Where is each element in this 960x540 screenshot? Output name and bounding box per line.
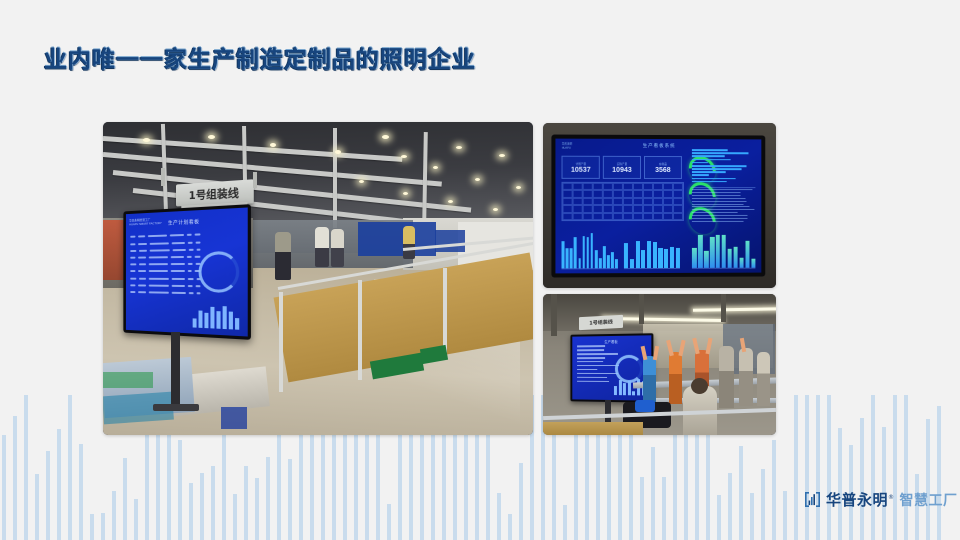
screen-data-cell <box>138 257 146 259</box>
decorative-bar <box>761 469 765 540</box>
screen-bar <box>223 306 227 329</box>
screen-data-cell <box>149 291 169 293</box>
dashboard-table-cell <box>643 197 653 205</box>
dashboard-table-cell <box>633 190 643 198</box>
dashboard-table-cell <box>603 190 613 198</box>
decorative-bar <box>882 427 886 540</box>
dashboard-hbar <box>692 177 736 179</box>
line-screen-bar <box>632 391 635 395</box>
dashboard-bar-chart-3 <box>692 230 755 269</box>
dashboard-chart-bar <box>710 236 714 267</box>
dashboard-table-cell <box>573 197 583 205</box>
dashboard-chart-bar <box>704 250 708 267</box>
huapu-bracket-bars-mark-icon <box>804 491 821 508</box>
screen-bar <box>235 318 239 329</box>
dashboard-chart-bar <box>612 252 615 268</box>
decorative-bar <box>552 435 556 540</box>
decorative-bar <box>134 499 138 540</box>
dashboard-table-cell <box>573 212 583 220</box>
dashboard-table-cell <box>603 205 613 213</box>
dashboard-table-cell <box>673 190 683 197</box>
screen-data-rows <box>130 232 200 298</box>
line-screen-bar <box>619 380 622 395</box>
screen-data-cell <box>196 292 201 294</box>
screen-data-cell <box>187 234 192 236</box>
screen-data-cell <box>188 285 193 287</box>
dashboard-chart-bar <box>664 249 668 268</box>
screen-data-cell <box>130 250 136 252</box>
line-screen-row <box>577 381 610 383</box>
decorative-bar <box>233 494 237 540</box>
dashboard-table-cell <box>623 205 633 213</box>
dashboard-chart-bar <box>591 233 594 268</box>
screen-data-cell <box>138 270 146 272</box>
dashboard-chart-bar <box>566 248 569 268</box>
screen-data-cell <box>170 234 184 236</box>
dashboard-table-cell <box>673 212 683 219</box>
line-overhead-sign: 1号组装线 <box>579 315 623 330</box>
dashboard-table-cell <box>563 205 573 213</box>
decorative-bar <box>123 458 127 540</box>
decorative-bar <box>24 395 28 540</box>
screen-data-cell <box>130 257 135 259</box>
production-board-screen: 华普永明智慧工厂 HUAPU SMART FACTORY 生产计划看板 <box>126 207 248 336</box>
dashboard-table-cell <box>573 205 583 213</box>
dashboard-table-cell <box>573 182 583 190</box>
screen-data-cell <box>149 256 168 258</box>
decorative-bar <box>321 420 325 540</box>
decorative-bar <box>167 424 171 540</box>
dashboard-table-cell <box>593 190 603 198</box>
dashboard-table-cell <box>613 205 623 213</box>
dashboard-table-cell <box>643 205 653 213</box>
kpi-label: 实际产量 <box>617 161 627 165</box>
screen-data-cell <box>149 277 169 279</box>
dashboard-table-cell <box>673 205 683 212</box>
dashboard-list-row <box>692 212 738 213</box>
dashboard-table-cell <box>593 197 603 205</box>
dashboard-chart-bar <box>630 259 634 268</box>
screen-data-row <box>130 290 200 296</box>
decorative-bar <box>90 514 94 540</box>
screen-data-row <box>130 240 200 247</box>
decorative-bar <box>376 430 380 540</box>
dashboard-table-cell <box>593 182 603 190</box>
decorative-bar <box>838 428 842 540</box>
brand-logo: 华普永明® 智慧工厂 <box>804 489 958 510</box>
decorative-bar <box>860 418 864 540</box>
dashboard-list-row <box>692 200 746 201</box>
decorative-bar <box>772 440 776 540</box>
dashboard-chart-bar <box>624 243 628 268</box>
dashboard-monitor-bezel: 华普永明 HUAPU 生产看板系统 计划产量 10537 实际产量 10943 <box>552 134 766 277</box>
dashboard-table-cell <box>583 212 593 220</box>
decorative-bar <box>816 395 820 540</box>
dashboard-table-cell <box>643 190 653 198</box>
line-screen-row <box>577 373 618 375</box>
screen-data-cell <box>138 291 146 293</box>
dashboard-chart-bar <box>583 235 586 267</box>
screen-data-cell <box>130 270 135 272</box>
screen-data-cell <box>138 243 146 245</box>
kpi-card: 实际产量 10943 <box>603 156 641 179</box>
decorative-bar <box>926 419 930 540</box>
decorative-bar <box>717 495 721 540</box>
dashboard-chart-bar <box>587 237 590 268</box>
screen-bar <box>229 311 233 329</box>
screen-data-cell <box>172 292 186 294</box>
screen-data-cell <box>139 250 147 252</box>
dashboard-order-list-panel <box>692 187 755 223</box>
decorative-bar <box>805 395 809 540</box>
decorative-bar <box>178 440 182 540</box>
decorative-bar <box>497 493 501 540</box>
kpi-card: 在制品 3568 <box>644 156 682 179</box>
dashboard-table-cell <box>583 182 593 190</box>
dashboard-table-cell <box>583 197 593 205</box>
screen-data-cell <box>172 278 185 280</box>
decorative-bar <box>112 491 116 540</box>
dashboard-chart-bar <box>698 234 702 267</box>
dashboard-chart-bar <box>570 248 573 268</box>
kpi-value: 10943 <box>612 166 632 173</box>
line-screen-bar <box>614 386 617 395</box>
dashboard-chart-bar <box>562 241 565 268</box>
dashboard-chart-bar <box>653 242 657 268</box>
decorative-bar <box>640 477 644 540</box>
line-screen-row <box>577 357 605 359</box>
screen-data-cell <box>171 242 185 244</box>
decorative-bar <box>288 459 292 540</box>
screen-data-cell <box>149 263 168 265</box>
screen-bar <box>217 311 221 329</box>
decorative-bar <box>211 466 215 540</box>
line-board-monitor: 生产看板 <box>570 333 653 403</box>
decorative-bar <box>794 395 798 540</box>
photo-factory-assembly-line-overview: 1号组装线 Assembly line 1 华普永明智慧工厂 HUAPU SMA… <box>103 122 533 435</box>
decorative-bar <box>266 457 270 540</box>
dashboard-table-cell <box>613 212 623 220</box>
decorative-bar <box>46 451 50 540</box>
line-overhead-sign-text: 1号组装线 <box>589 318 612 326</box>
dashboard-chart-bar <box>692 247 696 267</box>
dashboard-list-row <box>692 197 746 198</box>
line-screen-row <box>577 345 605 347</box>
dashboard-table-cell <box>663 197 673 204</box>
screen-data-row <box>130 269 200 274</box>
line-screen-row <box>577 365 619 367</box>
dashboard-table-cell <box>603 212 613 220</box>
decorative-bar <box>68 395 72 540</box>
screen-data-cell <box>189 249 194 251</box>
decorative-bar <box>57 429 61 540</box>
screen-data-cell <box>130 291 135 293</box>
brand-name-text: 华普永明 <box>826 491 888 509</box>
dashboard-table-cell <box>663 190 673 198</box>
screen-data-cell <box>130 236 135 238</box>
dashboard-list-row <box>692 220 743 221</box>
dashboard-list-row <box>692 209 754 210</box>
screen-data-cell <box>188 270 192 272</box>
dashboard-hbar <box>692 171 725 173</box>
screen-data-cell <box>187 263 192 265</box>
decorative-bar <box>2 435 6 540</box>
screen-data-row <box>130 254 200 260</box>
dashboard-chart-bar <box>574 237 577 268</box>
dashboard-chart-bar <box>722 234 726 267</box>
dashboard-hbar <box>692 168 742 170</box>
screen-header-title: 生产计划看板 <box>130 213 242 231</box>
screen-data-cell <box>130 277 136 279</box>
decorative-bar <box>101 513 105 540</box>
dashboard-table-cell <box>663 205 673 212</box>
screen-data-cell <box>138 236 146 238</box>
photo-production-dashboard-screen: 华普永明 HUAPU 生产看板系统 计划产量 10537 实际产量 10943 <box>543 123 776 288</box>
screen-data-row <box>130 247 200 253</box>
dashboard-chart-bar <box>599 258 602 268</box>
decorative-bar <box>464 426 468 540</box>
dashboard-table-cell <box>563 190 573 198</box>
dashboard-horizontal-bar-panel <box>692 148 755 183</box>
screen-data-cell <box>171 263 185 265</box>
dashboard-hbar <box>692 155 725 157</box>
dashboard-chart-bar <box>647 240 651 267</box>
dashboard-table-cell <box>613 182 623 190</box>
kpi-value: 3568 <box>655 166 671 173</box>
production-board-monitor: 华普永明智慧工厂 HUAPU SMART FACTORY 生产计划看板 <box>123 204 251 340</box>
dashboard-list-row <box>692 189 752 190</box>
decorative-bar <box>519 463 523 540</box>
dashboard-table-cell <box>643 212 653 219</box>
dashboard-hbar <box>692 161 708 163</box>
photo-assembly-line-workers: 1号组装线 生产看板 <box>543 294 776 435</box>
screen-data-cell <box>196 285 201 287</box>
dashboard-chart-bar <box>752 258 756 267</box>
screen-data-cell <box>195 241 200 243</box>
dashboard-table-cell <box>613 197 623 205</box>
dashboard-hbar <box>692 180 726 182</box>
screen-data-cell <box>187 256 192 258</box>
dashboard-table-cell <box>563 212 573 220</box>
dashboard-table-cell <box>663 212 673 219</box>
dashboard-table-cell <box>653 197 663 205</box>
decorative-bar <box>508 514 512 540</box>
screen-data-cell <box>139 264 146 266</box>
decorative-bar <box>244 466 248 540</box>
brand-sub-name: 智慧工厂 <box>900 490 958 510</box>
decorative-bar <box>200 473 204 540</box>
dashboard-chart-bar <box>595 249 598 267</box>
dashboard-chart-bar <box>716 235 720 267</box>
dashboard-chart-bar <box>740 257 744 267</box>
dashboard-table-cell <box>633 197 643 205</box>
dashboard-table-cell <box>653 212 663 219</box>
decorative-bar <box>387 504 391 540</box>
kpi-label: 在制品 <box>659 161 667 165</box>
line-board-screen: 生产看板 <box>572 335 651 400</box>
overhead-sign-text: 1号组装线 <box>189 184 239 203</box>
decorative-bar <box>662 477 666 540</box>
dashboard-table-cell <box>663 182 673 189</box>
dashboard-hbar <box>692 165 746 167</box>
dashboard-bar-chart-2 <box>624 230 680 269</box>
dashboard-table-cell <box>653 190 663 198</box>
decorative-bar <box>904 395 908 540</box>
decorative-bar <box>222 429 226 540</box>
dashboard-table-cell <box>573 190 583 198</box>
screen-data-cell <box>171 270 185 272</box>
dashboard-table-cell <box>633 212 643 219</box>
dashboard-hbar <box>692 152 749 154</box>
dashboard-table-cell <box>623 197 633 205</box>
dashboard-table-cell <box>673 182 683 189</box>
screen-data-cell <box>188 241 193 243</box>
screen-data-cell <box>149 249 169 251</box>
decorative-bar <box>255 478 259 540</box>
screen-data-cell <box>139 277 147 279</box>
slide-canvas: 业内唯一一家生产制造定制品的照明企业 <box>0 0 960 540</box>
screen-data-cell <box>195 256 201 258</box>
dashboard-table-cell <box>623 212 633 220</box>
screen-bar <box>211 307 215 329</box>
registered-mark: ® <box>888 494 895 501</box>
screen-data-cell <box>149 284 169 286</box>
screen-data-cell <box>130 243 135 245</box>
brand-name: 华普永明® <box>826 489 895 510</box>
dashboard-table-cell <box>643 182 653 190</box>
line-screen-header: 生产看板 <box>572 339 651 345</box>
dashboard-table-cell <box>593 212 603 220</box>
decorative-bar <box>35 474 39 540</box>
screen-data-cell <box>149 270 168 272</box>
dashboard-table-cell <box>633 205 643 213</box>
dashboard-chart-bar <box>636 240 640 267</box>
screen-data-cell <box>171 256 184 258</box>
dashboard-bar-chart-1 <box>562 230 618 269</box>
dashboard-list-row <box>692 192 740 193</box>
screen-data-cell <box>171 285 185 287</box>
screen-bar-chart <box>193 301 240 330</box>
screen-bar <box>193 318 197 327</box>
screen-data-cell <box>130 284 135 286</box>
dashboard-hbar <box>692 158 731 160</box>
dashboard-chart-bar <box>607 254 610 267</box>
dashboard-chart-bar <box>670 246 674 267</box>
decorative-bar <box>728 473 732 540</box>
screen-data-row <box>130 276 200 281</box>
dashboard-table-cell <box>563 197 573 205</box>
decorative-bar <box>871 395 875 540</box>
dashboard-table-cell <box>623 190 633 198</box>
dashboard-table-cell <box>603 197 613 205</box>
dashboard-chart-bar <box>734 246 738 267</box>
decorative-bar <box>783 491 787 540</box>
dashboard-list-row <box>692 218 747 219</box>
dashboard-chart-bar <box>659 248 663 268</box>
dashboard-list-row <box>692 194 740 195</box>
dashboard-kpi-row: 计划产量 10537 实际产量 10943 在制品 3568 <box>562 156 682 179</box>
dashboard-table-cell <box>633 182 643 190</box>
dashboard-hbar <box>692 149 728 151</box>
line-screen-row <box>577 361 603 363</box>
screen-bar <box>205 313 209 329</box>
decorative-bar <box>937 406 941 540</box>
screen-bar <box>199 311 203 328</box>
dashboard-hbar <box>692 174 709 176</box>
dashboard-chart-bar <box>616 259 619 268</box>
kpi-label: 计划产量 <box>576 161 586 165</box>
screen-data-cell <box>138 284 146 286</box>
decorative-bar <box>827 395 831 540</box>
kpi-card: 计划产量 10537 <box>562 156 600 179</box>
dashboard-table-cell <box>653 182 663 189</box>
dashboard-chart-bar <box>603 246 606 268</box>
line-screen-bar <box>628 380 631 395</box>
dashboard-chart-bar <box>728 248 732 267</box>
dashboard-table-cell <box>653 205 663 213</box>
screen-data-cell <box>172 249 185 251</box>
decorative-bar <box>750 493 754 540</box>
decorative-bar <box>79 444 83 540</box>
dashboard-list-row <box>692 215 747 216</box>
screen-data-cell <box>130 264 136 266</box>
dashboard-table-cell <box>583 190 593 198</box>
decorative-bar <box>189 483 193 540</box>
decorative-bar <box>13 416 17 540</box>
kpi-value: 10537 <box>571 166 591 173</box>
decorative-bar <box>343 430 347 540</box>
decorative-bar <box>651 447 655 540</box>
dashboard-table-cell <box>613 190 623 198</box>
dashboard-table-cell <box>603 182 613 190</box>
dashboard-table-cell <box>673 197 683 204</box>
dashboard-screen: 华普永明 HUAPU 生产看板系统 计划产量 10537 实际产量 10943 <box>556 138 762 273</box>
line-screen-bar <box>623 383 626 395</box>
line-screen-row <box>577 349 605 351</box>
screen-data-cell <box>195 234 201 236</box>
dashboard-table-cell <box>623 182 633 190</box>
screen-data-cell <box>148 235 167 238</box>
screen-data-row <box>130 262 200 267</box>
line-screen-row <box>577 369 598 371</box>
decorative-bar <box>563 505 567 540</box>
screen-data-cell <box>188 292 193 294</box>
screen-data-row <box>130 283 200 289</box>
dashboard-list-row <box>692 206 749 207</box>
dashboard-table-cell <box>593 205 603 213</box>
screen-donut-chart <box>199 251 240 293</box>
dashboard-data-table <box>562 181 684 221</box>
dashboard-table-cell <box>583 205 593 213</box>
dashboard-chart-bar <box>579 257 582 267</box>
dashboard-chart-bar <box>642 250 646 268</box>
screen-data-row <box>130 232 200 239</box>
decorative-bar <box>739 446 743 540</box>
line-screen-row <box>577 377 607 379</box>
dashboard-table-cell <box>563 182 573 190</box>
line-screen-row <box>577 353 618 355</box>
dashboard-list-row <box>692 203 743 204</box>
dashboard-chart-bar <box>676 247 680 267</box>
decorative-bar <box>893 395 897 540</box>
page-title: 业内唯一一家生产制造定制品的照明企业 <box>44 40 476 74</box>
screen-data-cell <box>149 242 168 244</box>
screen-data-cell <box>196 248 200 250</box>
dashboard-chart-bar <box>746 240 750 267</box>
screen-data-cell <box>188 278 193 280</box>
